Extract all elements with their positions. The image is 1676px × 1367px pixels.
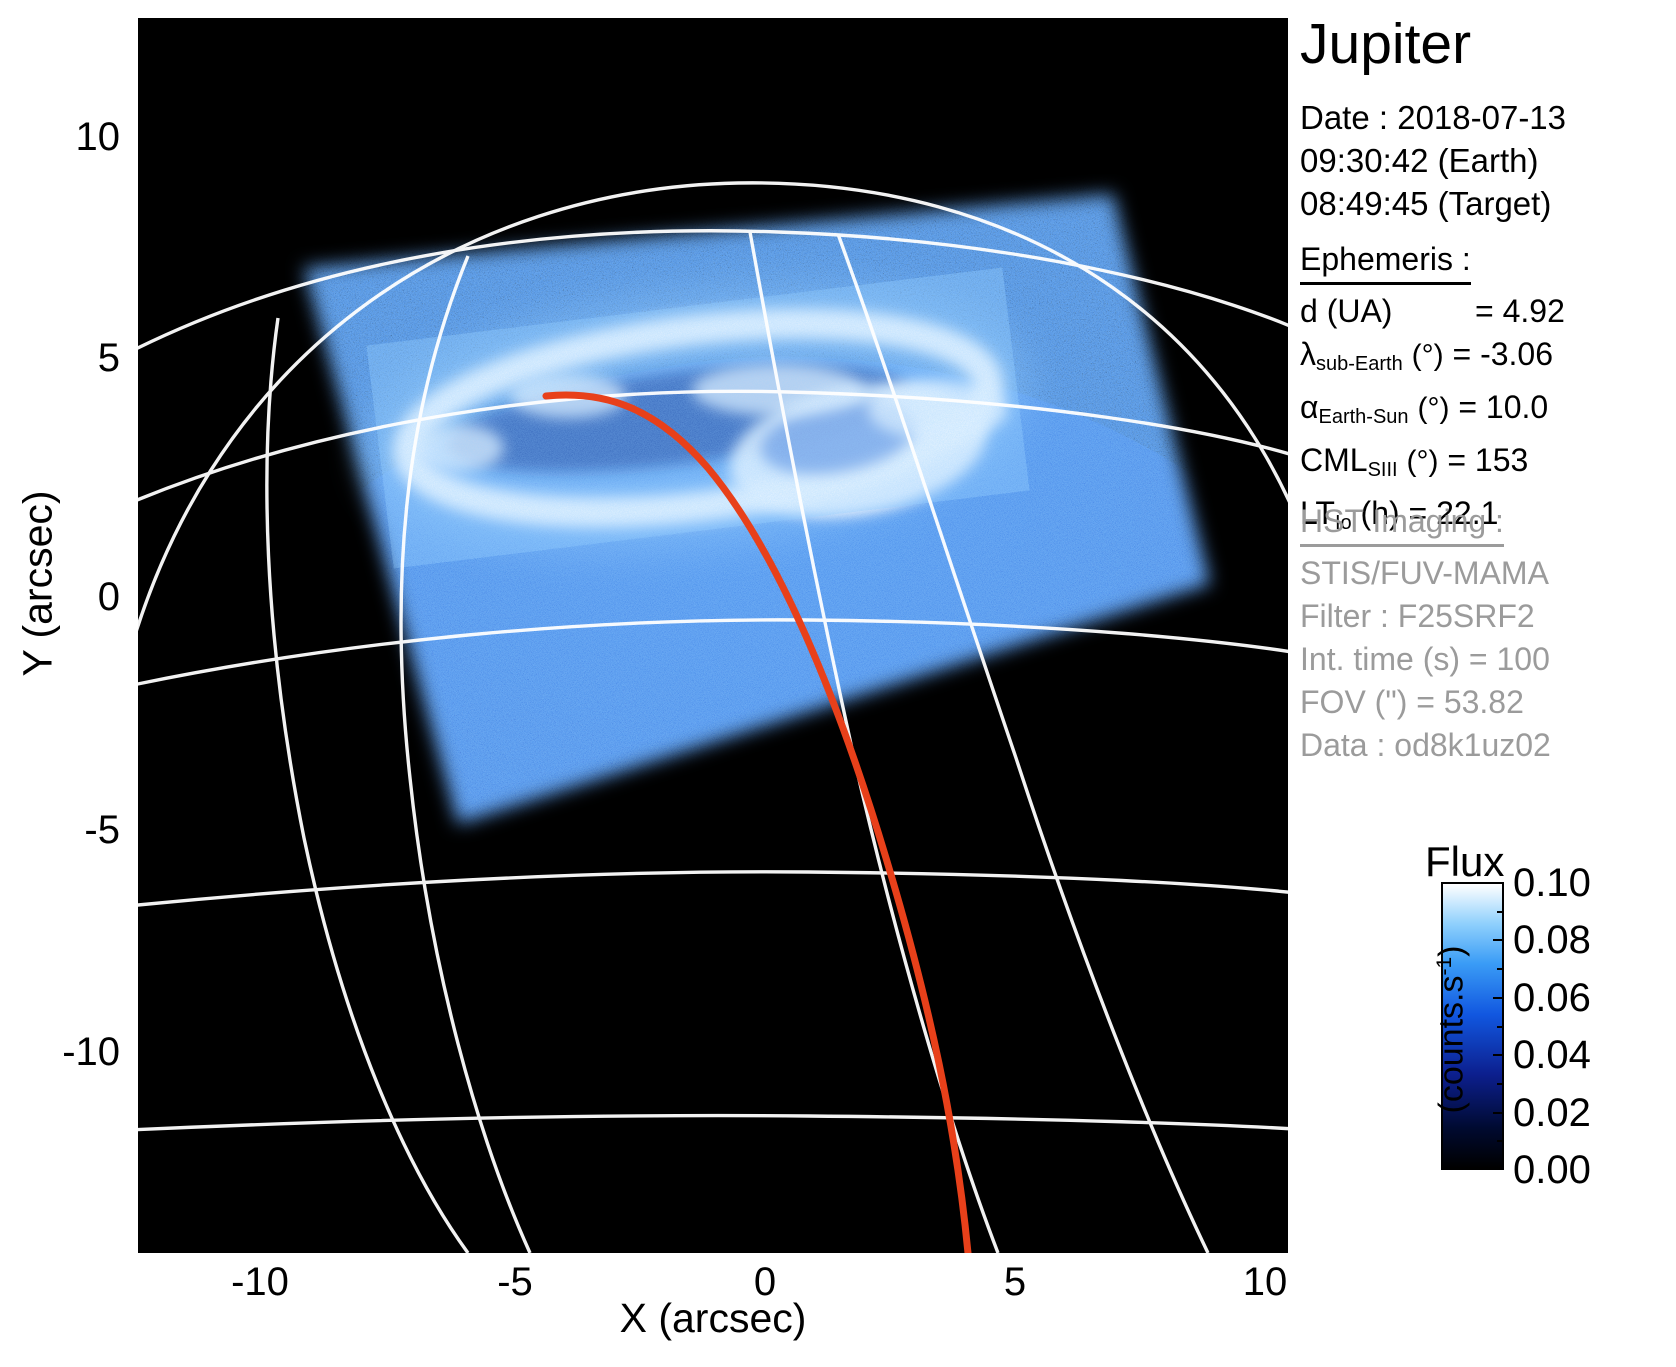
y-tick-label: -5 [40,810,120,850]
colorbar-tick-minor [1497,1140,1504,1142]
hst-integration-time: Int. time (s) = 100 [1300,638,1551,681]
ephemeris-row-cml: CMLSIII (°) = 153 [1300,439,1565,492]
ephemeris-value: = -3.06 [1452,336,1553,372]
ephemeris-symbol: d [1300,293,1318,329]
target-title: Jupiter [1300,14,1471,74]
ephemeris-unit: (°) [1412,339,1444,372]
colorbar-tick [1493,1054,1504,1056]
colorbar-tick [1493,1168,1504,1170]
colorbar-tick-minor [1497,1026,1504,1028]
colorbar-tick [1493,882,1504,884]
hst-field-of-view: FOV (") = 53.82 [1300,681,1551,724]
colorbar-tick-label: 0.06 [1513,978,1591,1018]
colorbar-tick-minor [1497,968,1504,970]
aurora-image-plot [138,18,1288,1253]
colorbar-axis-label: (counts.s-1) [1433,880,1472,1180]
colorbar-tick-label: 0.10 [1513,863,1591,903]
fov-data-region [138,18,1288,1253]
ephemeris-symbol: λ [1300,336,1316,372]
colorbar-axis-label-close: ) [1433,946,1471,957]
ephemeris-value: = 153 [1447,442,1528,478]
hst-filter: Filter : F25SRF2 [1300,595,1551,638]
colorbar-axis-label-exponent: -1 [1433,957,1456,976]
colorbar-tick-label: 0.02 [1513,1093,1591,1133]
ephemeris-heading: Ephemeris : [1300,238,1471,285]
ephemeris-subscript: sub-Earth [1316,353,1403,375]
y-tick-label: 5 [58,338,120,378]
ephemeris-row-phase-angle: αEarth-Sun (°) = 10.0 [1300,386,1565,439]
y-tick-label: -10 [20,1032,120,1072]
hst-instrument: STIS/FUV-MAMA [1300,552,1551,595]
x-axis-title: X (arcsec) [138,1295,1288,1342]
colorbar-tick [1493,997,1504,999]
ephemeris-subscript: Earth-Sun [1319,406,1409,428]
ephemeris-row-sub-earth-latitude: λsub-Earth (°) = -3.06 [1300,333,1565,386]
colorbar-tick [1493,939,1504,941]
colorbar-tick [1493,1112,1504,1114]
ephemeris-unit: (°) [1417,392,1449,425]
ephemeris-unit: (UA) [1327,293,1393,329]
hst-data-id: Data : od8k1uz02 [1300,724,1551,767]
y-tick-label: 10 [58,117,120,157]
ephemeris-symbol: α [1300,389,1319,425]
earth-time-line: 09:30:42 (Earth) [1300,139,1566,182]
observation-date-block: Date : 2018-07-13 09:30:42 (Earth) 08:49… [1300,96,1566,225]
colorbar-tick-minor [1497,911,1504,913]
colorbar-tick-label: 0.00 [1513,1150,1591,1190]
hst-imaging-heading: HST Imaging : [1300,500,1504,547]
ephemeris-symbol: CML [1300,442,1368,478]
ephemeris-unit: (°) [1406,445,1438,478]
y-tick-label: 0 [58,577,120,617]
target-time-line: 08:49:45 (Target) [1300,182,1566,225]
plot-canvas [138,18,1288,1253]
y-axis-title: Y (arcsec) [15,454,62,714]
colorbar-axis-label-main: (counts.s [1433,976,1471,1114]
hst-imaging-block: HST Imaging : STIS/FUV-MAMA Filter : F25… [1300,500,1551,767]
colorbar-tick-label: 0.08 [1513,920,1591,960]
ephemeris-value: = 4.92 [1475,293,1565,329]
colorbar-tick-label: 0.04 [1513,1035,1591,1075]
ephemeris-value: = 10.0 [1458,389,1548,425]
date-line: Date : 2018-07-13 [1300,96,1566,139]
ephemeris-block: Ephemeris : d (UA)= 4.92 λsub-Earth (°) … [1300,238,1565,545]
ephemeris-row-distance: d (UA)= 4.92 [1300,290,1565,333]
colorbar-tick-minor [1497,1083,1504,1085]
ephemeris-subscript: SIII [1368,459,1398,481]
